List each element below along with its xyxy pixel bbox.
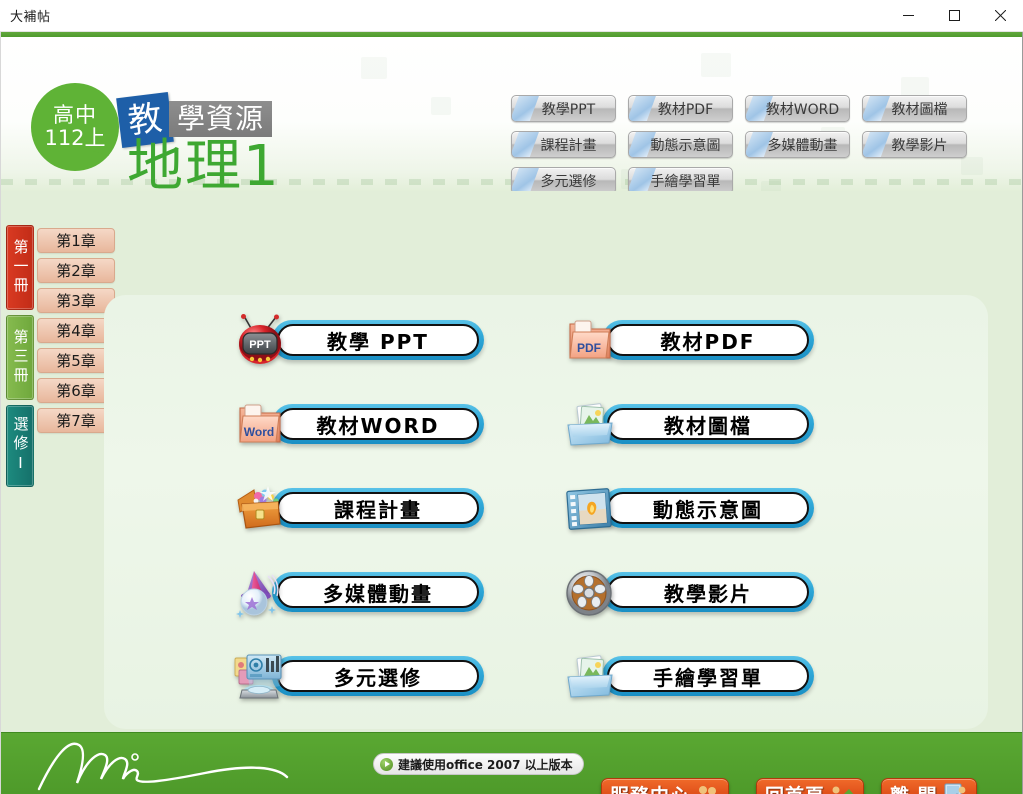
header-band: 高中 112上 教 學資源 地理1 教學PPT 教材PDF 教材WORD 教材圖… <box>1 37 1023 191</box>
application-window: 大補帖 <box>0 0 1023 794</box>
resource-button-face: 動態示意圖 <box>607 492 809 524</box>
resource-label: 教材PDF <box>661 326 756 355</box>
svg-text:Word: Word <box>244 425 274 439</box>
treasure-box-icon <box>232 482 288 534</box>
top-nav-label: 多媒體動畫 <box>758 135 838 155</box>
grade-badge-tail <box>89 151 109 171</box>
top-nav-label: 教學PPT <box>532 99 595 119</box>
film-frame-icon <box>562 482 618 534</box>
footer-button-label: 回首頁 <box>765 781 825 794</box>
top-nav-button[interactable]: 課程計畫 <box>511 131 616 158</box>
resource-item[interactable]: 多元選修 <box>232 650 484 702</box>
footer-button-label: 服務中心 <box>610 781 690 794</box>
tv-ppt-icon: PPT <box>232 314 288 366</box>
service-people-icon <box>694 782 720 794</box>
logo-banner-text: 學資源 <box>177 105 264 133</box>
svg-text:PDF: PDF <box>577 341 601 355</box>
resource-item[interactable]: PPT 教學 PPT <box>232 314 484 366</box>
resource-button-face: 手繪學習單 <box>607 660 809 692</box>
footer-button[interactable]: 服務中心 <box>601 778 729 794</box>
top-nav-label: 多元選修 <box>531 171 597 191</box>
volume-tab-label: 第一冊 <box>13 239 28 296</box>
top-nav-button[interactable]: 動態示意圖 <box>628 131 733 158</box>
resource-label: 課程計畫 <box>334 494 422 523</box>
chapter-label: 第1章 <box>56 230 96 251</box>
top-nav-label: 動態示意圖 <box>641 135 721 155</box>
footer-bar: 建議使用office 2007 以上版本 <box>1 732 1023 794</box>
product-logo: 高中 112上 教 學資源 地理1 <box>19 45 319 190</box>
resource-button[interactable]: 教材PDF <box>602 320 814 360</box>
resource-button[interactable]: 多媒體動畫 <box>272 572 484 612</box>
resource-item[interactable]: 教材圖檔 <box>562 398 814 450</box>
brand-logo <box>25 737 325 794</box>
resource-button[interactable]: 多元選修 <box>272 656 484 696</box>
resource-item[interactable]: 教學影片 <box>562 566 814 618</box>
volume-tab[interactable]: 第三冊 <box>6 315 34 400</box>
chapter-label: 第3章 <box>56 290 96 311</box>
resource-button-face: 教材WORD <box>277 408 479 440</box>
resource-label: 手繪學習單 <box>653 662 763 691</box>
home-icon <box>829 782 855 794</box>
chapter-label: 第5章 <box>56 350 96 371</box>
chapter-label: 第7章 <box>56 410 96 431</box>
close-icon[interactable] <box>977 0 1023 32</box>
resource-label: 動態示意圖 <box>653 494 763 523</box>
office-note-text: 建議使用office 2007 以上版本 <box>398 756 573 773</box>
folder-word-icon: Word <box>232 398 288 450</box>
top-nav-label: 教學影片 <box>882 135 948 155</box>
resource-button[interactable]: 課程計畫 <box>272 488 484 528</box>
window-title: 大補帖 <box>10 6 51 25</box>
top-nav-label: 手繪學習單 <box>641 171 721 191</box>
resource-button[interactable]: 動態示意圖 <box>602 488 814 528</box>
top-nav-label: 教材WORD <box>756 99 839 119</box>
page-title: 地理1 <box>127 139 281 191</box>
window-controls <box>885 0 1023 32</box>
photo-tray-icon <box>562 650 618 702</box>
volume-tab[interactable]: 選修Ⅰ <box>6 405 34 487</box>
resource-grid: PPT 教學 PPT PDF 教材PDF Word <box>104 295 988 729</box>
volume-tab-label: 第三冊 <box>13 329 28 386</box>
resource-button-face: 教學 PPT <box>277 324 479 356</box>
logo-banner: 學資源 <box>169 101 272 137</box>
play-icon <box>380 758 393 771</box>
resource-button[interactable]: 教學影片 <box>602 572 814 612</box>
svg-text:PPT: PPT <box>249 339 271 351</box>
top-nav-button[interactable]: 多媒體動畫 <box>745 131 850 158</box>
resource-button-face: 多元選修 <box>277 660 479 692</box>
maximize-icon[interactable] <box>931 0 977 32</box>
resource-button-face: 課程計畫 <box>277 492 479 524</box>
resource-button[interactable]: 教材圖檔 <box>602 404 814 444</box>
resource-item[interactable]: PDF 教材PDF <box>562 314 814 366</box>
resource-button-face: 多媒體動畫 <box>277 576 479 608</box>
chapter-button[interactable]: 第1章 <box>37 228 115 253</box>
top-nav-label: 教材圖檔 <box>882 99 948 119</box>
top-nav-row: 課程計畫 動態示意圖 多媒體動畫 教學影片 <box>511 131 991 158</box>
top-nav-row: 多元選修 手繪學習單 <box>511 167 991 191</box>
resource-label: 教材圖檔 <box>664 410 752 439</box>
resource-button[interactable]: 教學 PPT <box>272 320 484 360</box>
resource-item[interactable]: 動態示意圖 <box>562 482 814 534</box>
top-nav: 教學PPT 教材PDF 教材WORD 教材圖檔 課程計畫 動態示意圖 多媒體動畫… <box>511 95 991 191</box>
resource-label: 多媒體動畫 <box>323 578 433 607</box>
footer-button[interactable]: 回首頁 <box>756 778 864 794</box>
top-nav-button[interactable]: 教材PDF <box>628 95 733 122</box>
chapter-label: 第4章 <box>56 320 96 341</box>
resource-label: 教材WORD <box>316 410 439 439</box>
magic-hat-icon <box>232 566 288 618</box>
resource-button-face: 教學影片 <box>607 576 809 608</box>
resource-item[interactable]: 手繪學習單 <box>562 650 814 702</box>
resource-button[interactable]: 教材WORD <box>272 404 484 444</box>
top-nav-button[interactable]: 教學PPT <box>511 95 616 122</box>
grade-badge-line1: 高中 <box>53 104 97 127</box>
page-body: 高中 112上 教 學資源 地理1 教學PPT 教材PDF 教材WORD 教材圖… <box>0 32 1023 794</box>
minimize-icon[interactable] <box>885 0 931 32</box>
footer-button[interactable]: 離 開 <box>881 778 977 794</box>
resource-label: 教學影片 <box>664 578 752 607</box>
resource-item[interactable]: 課程計畫 <box>232 482 484 534</box>
exit-door-icon <box>942 782 968 794</box>
film-reel-icon <box>562 566 618 618</box>
office-version-note: 建議使用office 2007 以上版本 <box>373 753 584 775</box>
top-nav-button[interactable]: 教學影片 <box>862 131 967 158</box>
top-nav-label: 課程計畫 <box>531 135 597 155</box>
chapter-label: 第2章 <box>56 260 96 281</box>
title-bar: 大補帖 <box>0 0 1023 32</box>
hologram-projector-icon <box>232 650 288 702</box>
volume-tab-label: 選修Ⅰ <box>13 416 28 476</box>
folder-pdf-icon: PDF <box>562 314 618 366</box>
resource-panel: PPT 教學 PPT PDF 教材PDF Word <box>104 295 988 729</box>
chapter-button[interactable]: 第2章 <box>37 258 115 283</box>
chapter-label: 第6章 <box>56 380 96 401</box>
top-nav-row: 教學PPT 教材PDF 教材WORD 教材圖檔 <box>511 95 991 122</box>
resource-label: 教學 PPT <box>327 326 429 355</box>
resource-button-face: 教材PDF <box>607 324 809 356</box>
resource-item[interactable]: Word 教材WORD <box>232 398 484 450</box>
resource-button-face: 教材圖檔 <box>607 408 809 440</box>
grade-badge-line2: 112上 <box>44 127 105 150</box>
resource-button[interactable]: 手繪學習單 <box>602 656 814 696</box>
top-nav-button[interactable]: 教材圖檔 <box>862 95 967 122</box>
footer-button-label: 離 開 <box>890 781 938 794</box>
photo-tray-icon <box>562 398 618 450</box>
top-nav-button[interactable]: 手繪學習單 <box>628 167 733 191</box>
resource-label: 多元選修 <box>334 662 422 691</box>
volume-tab[interactable]: 第一冊 <box>6 225 34 310</box>
top-nav-button[interactable]: 教材WORD <box>745 95 850 122</box>
resource-item[interactable]: 多媒體動畫 <box>232 566 484 618</box>
top-nav-label: 教材PDF <box>648 99 713 119</box>
top-nav-button[interactable]: 多元選修 <box>511 167 616 191</box>
chapter-sidebar: 第一冊第三冊選修Ⅰ第1章第2章第3章第4章第5章第6章第7章 <box>1 192 119 492</box>
